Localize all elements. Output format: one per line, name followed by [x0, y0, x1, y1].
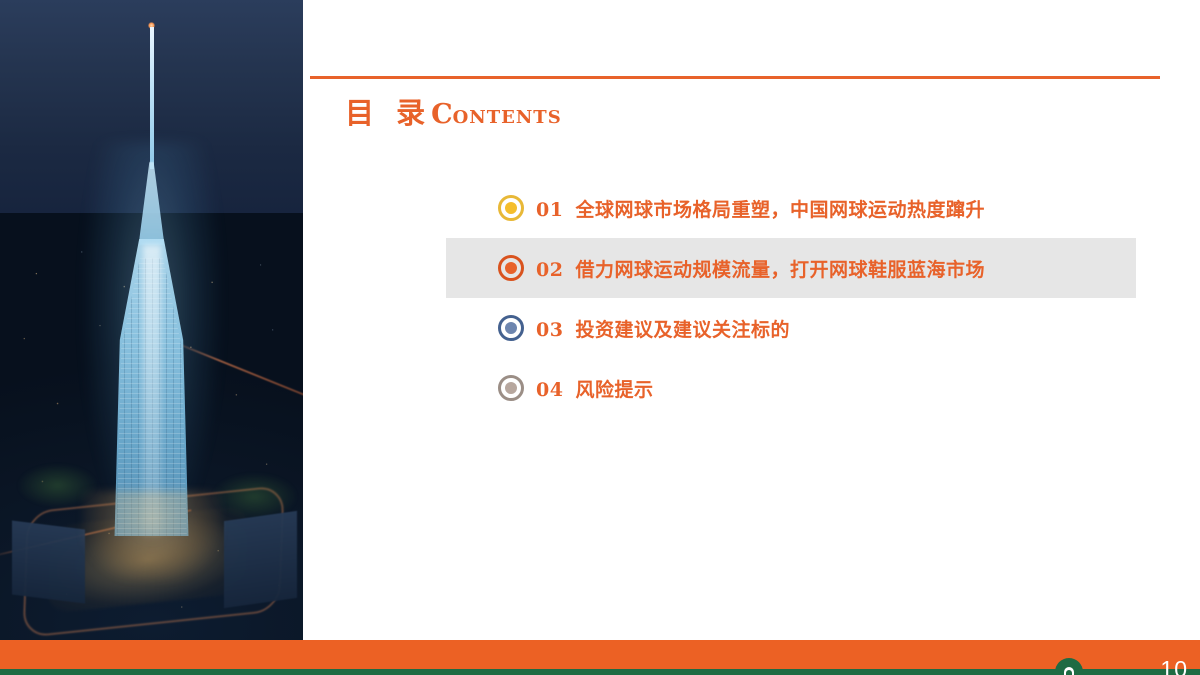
contents-item-01-number: 01 — [536, 199, 563, 221]
footer-bar — [0, 640, 1200, 669]
green-arch-logo — [1055, 658, 1083, 675]
contents-item-03[interactable]: 03投资建议及建议关注标的 — [446, 298, 1136, 358]
night-skyscraper-photo — [0, 0, 303, 646]
contents-item-01-label: 全球网球市场格局重塑，中国网球运动热度蹿升 — [575, 199, 985, 221]
footer-accent-strip — [0, 669, 1200, 675]
contents-item-04-label: 风险提示 — [575, 379, 653, 401]
bullet-ring-icon-03 — [498, 315, 524, 341]
contents-item-03-text: 03投资建议及建议关注标的 — [536, 315, 790, 342]
page-number: 10 — [1160, 658, 1188, 675]
contents-item-02-number: 02 — [536, 259, 563, 281]
photo-podium-left — [12, 520, 85, 603]
page-title-en: CONTENTS — [431, 108, 562, 127]
bullet-ring-icon-04 — [498, 375, 524, 401]
contents-item-04[interactable]: 04风险提示 — [446, 358, 1136, 418]
photo-tower-spire — [150, 27, 154, 169]
contents-item-04-number: 04 — [536, 379, 563, 401]
page-title: 目 录CONTENTS — [345, 90, 562, 132]
bullet-ring-icon-01 — [498, 195, 524, 221]
contents-item-01[interactable]: 01全球网球市场格局重塑，中国网球运动热度蹿升 — [446, 178, 1136, 238]
bullet-dot-03 — [505, 322, 517, 334]
bullet-dot-04 — [505, 382, 517, 394]
contents-item-01-text: 01全球网球市场格局重塑，中国网球运动热度蹿升 — [536, 195, 985, 222]
contents-item-03-number: 03 — [536, 319, 563, 341]
page-title-en-rest: ONTENTS — [453, 107, 562, 128]
bullet-dot-01 — [505, 202, 517, 214]
page-title-cn: 目 录 — [345, 96, 431, 130]
photo-podium-right — [224, 511, 297, 608]
contents-list: 01全球网球市场格局重塑，中国网球运动热度蹿升 02借力网球运动规模流量，打开网… — [446, 178, 1136, 418]
contents-item-03-label: 投资建议及建议关注标的 — [575, 319, 790, 341]
contents-item-02-label: 借力网球运动规模流量，打开网球鞋服蓝海市场 — [575, 259, 985, 281]
presentation-slide: 目 录CONTENTS 01全球网球市场格局重塑，中国网球运动热度蹿升 02借力… — [0, 0, 1200, 675]
photo-tower-base-glow — [82, 491, 222, 581]
bullet-dot-02 — [505, 262, 517, 274]
bullet-ring-icon-02 — [498, 255, 524, 281]
contents-item-02-text: 02借力网球运动规模流量，打开网球鞋服蓝海市场 — [536, 255, 985, 282]
logo-arch-core — [1066, 670, 1072, 675]
contents-item-04-text: 04风险提示 — [536, 375, 653, 402]
header-divider-rule — [310, 76, 1160, 79]
page-title-en-cap: C — [431, 99, 453, 130]
contents-item-02[interactable]: 02借力网球运动规模流量，打开网球鞋服蓝海市场 — [446, 238, 1136, 298]
